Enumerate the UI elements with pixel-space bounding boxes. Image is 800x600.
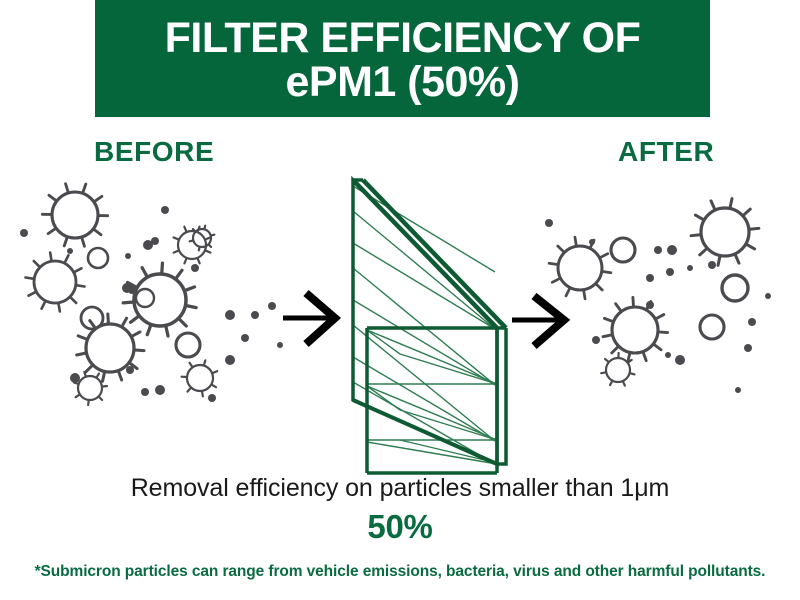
dot-particle-icon [735,387,741,393]
efficiency-value: 50% [0,508,800,546]
ring-particle-icon [81,307,103,329]
dot-particle-icon [646,301,654,309]
footnote-text: *Submicron particles can range from vehi… [0,563,800,581]
dot-particle-icon [708,261,716,269]
dot-particle-icon [151,237,159,245]
dot-particle-icon [592,336,600,344]
dot-particle-icon [225,355,235,365]
virus-particle-icon [691,199,759,266]
dot-particle-icon [667,245,677,255]
dot-particle-icon [225,310,235,320]
ring-particle-icon [722,275,748,301]
dot-particle-icon [67,248,73,254]
dot-particle-icon [748,318,756,326]
pleated-air-filter-icon [353,180,506,473]
ring-particle-icon [176,333,200,357]
dot-particle-icon [161,206,169,214]
virus-particle-icon [601,353,634,386]
virus-particle-icon [174,227,211,264]
dot-particle-icon [589,239,595,245]
virus-particle-icon [74,372,107,405]
ring-particle-icon [136,289,154,307]
virus-particle-icon [42,184,107,247]
airflow-arrow-inlet [283,293,335,344]
dot-particle-icon [251,311,259,319]
dot-particle-icon [70,373,80,383]
virus-particle-icon [603,297,668,361]
infographic-root: FILTER EFFICIENCY OF ePM1 (50%) BEFORE A… [0,0,800,600]
dot-particle-icon [268,302,276,310]
dot-particle-icon [241,334,249,342]
dot-particle-icon [654,246,662,254]
ring-particle-icon [611,238,635,262]
dot-particle-icon [666,268,674,276]
virus-particle-icon [549,237,611,299]
dot-particle-icon [125,253,131,259]
dot-particle-icon [122,283,132,293]
dot-particle-icon [155,385,165,395]
ring-particle-icon [700,315,724,339]
dot-particle-icon [141,388,149,396]
dot-particle-icon [744,344,752,352]
dot-particle-icon [128,286,136,294]
dot-particle-icon [277,342,283,348]
page-title-line1: FILTER EFFICIENCY OF [165,17,641,61]
virus-particle-icon [190,226,215,251]
dot-particle-icon [208,394,216,402]
dot-particle-icon [765,293,771,299]
virus-particle-icon [182,360,218,396]
dot-particle-icon [545,219,553,227]
virus-particle-icon [26,253,85,312]
dot-particle-icon [143,240,153,250]
dot-particle-icon [191,264,199,272]
ring-particle-icon [88,248,108,268]
dot-particle-icon [646,274,654,282]
title-banner: FILTER EFFICIENCY OF ePM1 (50%) [95,0,710,117]
virus-particle-icon [77,314,144,381]
caption-text: Removal efficiency on particles smaller … [0,474,800,503]
dot-particle-icon [665,352,671,358]
dot-particle-icon [20,229,28,237]
dot-particle-icon [675,355,685,365]
after-label: AFTER [618,136,714,168]
particle-cloud-after [545,199,771,393]
particle-cloud-before [20,184,283,405]
dot-particle-icon [126,366,134,374]
page-title-line2: ePM1 (50%) [286,61,520,105]
airflow-arrow-outlet [512,296,564,346]
dot-particle-icon [687,265,693,271]
before-label: BEFORE [94,136,214,168]
virus-particle-icon [123,263,196,336]
